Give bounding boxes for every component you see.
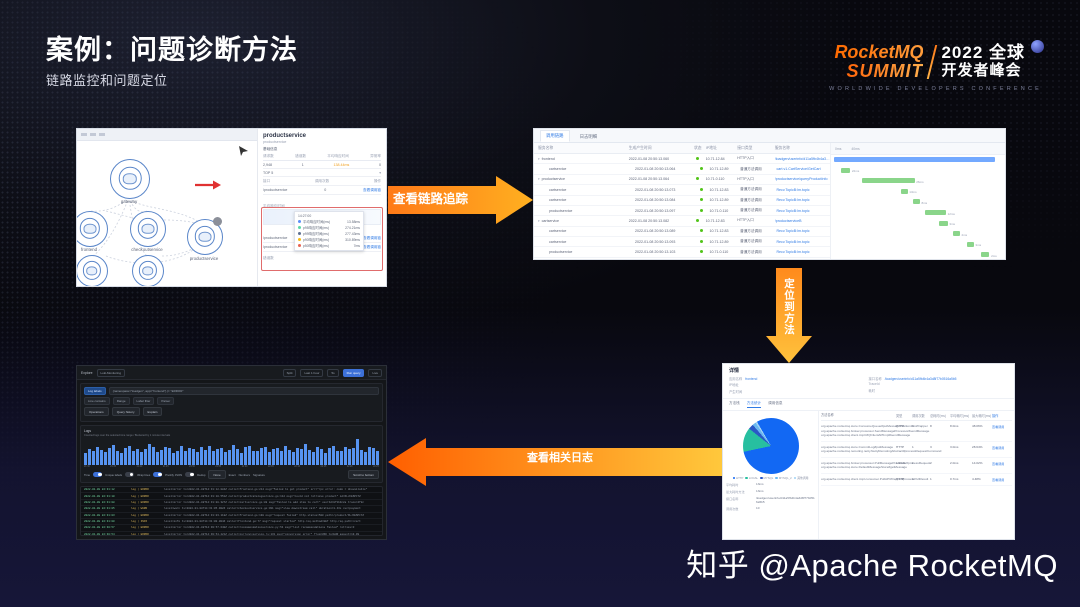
log-message: level=info ts=2022-01-08T14:31:00.004Z c… bbox=[164, 520, 379, 523]
log-volume-bar bbox=[208, 446, 211, 465]
cell-status bbox=[694, 250, 709, 254]
col-op: 操作 bbox=[374, 179, 381, 184]
kv-row: 接口名称/loadgen/userinfo/d11a5fb4b4a3d8f77b… bbox=[726, 496, 815, 504]
series-color-dot bbox=[298, 238, 301, 241]
split-button[interactable]: Split bbox=[283, 369, 297, 377]
cell-ip: 10.71.12.89 bbox=[710, 167, 741, 171]
col-endpoint: 服务名称 bbox=[775, 146, 830, 151]
log-volume-bar bbox=[364, 452, 367, 465]
legend-item[interactable]: MYSQL_2 bbox=[775, 476, 791, 480]
service-name: frontend bbox=[542, 157, 555, 161]
topology-node[interactable] bbox=[130, 211, 166, 247]
log-volume-bar bbox=[376, 451, 379, 465]
gantt-bar[interactable] bbox=[841, 168, 850, 173]
cell-endpoint[interactable]: /productservice/queryProductInfo bbox=[775, 177, 830, 181]
cell-ip: 10.71.12.83 bbox=[710, 188, 741, 192]
gantt-duration-label: 12ms bbox=[948, 212, 955, 216]
log-volume-bar bbox=[264, 447, 267, 465]
cell-endpoint[interactable]: /productserviceB bbox=[775, 219, 830, 223]
tab-log-detail[interactable]: 日志明细 bbox=[574, 131, 604, 142]
log-volume-bar bbox=[308, 450, 311, 465]
gantt-bar[interactable] bbox=[901, 189, 908, 194]
toggle-unique-labels[interactable] bbox=[125, 472, 134, 477]
col-type: 类型 bbox=[896, 413, 912, 418]
topology-node[interactable] bbox=[76, 255, 108, 287]
x-axis-tick: 22:05 bbox=[268, 466, 274, 468]
view-trace-link[interactable]: 查看调用链 bbox=[363, 188, 381, 193]
detail-meta-right: 接口名称/loadgen/userinfo/d11a5fb4b4a3d8f77b… bbox=[869, 376, 1009, 395]
trace-row[interactable]: productservice2022-01-08 20:50:13.10310.… bbox=[534, 247, 830, 257]
trace-row[interactable]: cartservice2022-01-08 20:50:13.06410.71.… bbox=[534, 164, 830, 174]
tooltip-row: 平均响应时间(ms) 13.58ms bbox=[298, 219, 360, 224]
status-ok-icon bbox=[700, 250, 703, 253]
cursor-icon bbox=[237, 145, 251, 157]
cell-endpoint[interactable]: /loadgen/userinfo/d11a5fb4b4a3d8f77b0516… bbox=[775, 157, 830, 161]
log-volume-bar bbox=[224, 452, 227, 465]
log-volume-bar bbox=[180, 446, 183, 466]
filter-label[interactable]: Label filter bbox=[133, 397, 155, 405]
cell-count: 0 bbox=[324, 188, 326, 193]
live-button[interactable]: Live bbox=[368, 369, 382, 377]
explain-button[interactable]: Explain bbox=[143, 407, 163, 416]
service-name: cartservice bbox=[549, 229, 566, 233]
log-row-list[interactable]: 2022-01-08 22:31:12log | ERRORlevel=erro… bbox=[80, 486, 383, 536]
table-head-row: 接口 调用次数 操作 bbox=[263, 177, 381, 186]
col-service-name: 服务名称 bbox=[534, 146, 629, 151]
topology-canvas[interactable]: gateway frontend checkoutservice product… bbox=[77, 129, 258, 286]
cell-time: 2022-01-08 20:50:13.097 bbox=[635, 209, 694, 213]
cell-service: cartservice bbox=[534, 240, 635, 244]
logo-sphere-icon bbox=[1031, 40, 1044, 53]
cell-status bbox=[694, 240, 709, 244]
trace-table[interactable]: 服务名称 生成产生时间 状态 IP地址 接口类型 服务名称 ▾frontend2… bbox=[534, 143, 831, 259]
trace-gantt[interactable]: 0ms 40ms 22ms26ms13ms8ms12ms3ms2ms3ms2ms bbox=[831, 143, 1005, 259]
toggle-time[interactable] bbox=[93, 472, 102, 477]
cell-endpoint[interactable]: Recv.TopicB:lm.topic bbox=[776, 250, 830, 254]
log-timestamp: 2022-01-08 22:30:57 bbox=[84, 526, 128, 529]
log-volume-bar bbox=[92, 451, 95, 465]
topology-node-label: productservice bbox=[190, 256, 219, 261]
log-volume-bar bbox=[352, 448, 355, 465]
watermark: 知乎 @Apache RocketMQ bbox=[686, 540, 1058, 585]
x-axis-tick: 21:35 bbox=[110, 466, 116, 468]
legend-item[interactable]: MYSQL bbox=[760, 476, 773, 480]
toggle-prettify[interactable] bbox=[185, 472, 194, 477]
detail-title: 详情 bbox=[729, 367, 1008, 374]
x-axis-tick: 22:00 bbox=[242, 466, 248, 468]
query-filter-row[interactable]: Line contains Range Label filter Parser bbox=[84, 397, 379, 405]
status-ok-icon bbox=[700, 188, 703, 191]
topology-node[interactable] bbox=[110, 159, 150, 199]
chevron-down-icon[interactable]: ▾ bbox=[379, 171, 381, 175]
log-volume-bar bbox=[100, 450, 103, 465]
log-volume-bar bbox=[124, 448, 127, 465]
service-name: cartservice bbox=[549, 240, 566, 244]
log-volume-panel[interactable]: Logs Counted logs over the selected time… bbox=[80, 425, 383, 483]
log-volume-bar bbox=[168, 448, 171, 465]
gantt-axis: 0ms 40ms bbox=[831, 143, 1005, 155]
log-volume-bar bbox=[204, 450, 207, 465]
screenshot-log-explorer[interactable]: Explore Loki-Monitoring Split Last 1 hou… bbox=[76, 365, 387, 540]
log-timestamp: 2022-01-08 22:31:05 bbox=[84, 507, 128, 510]
cell-time: 2022-01-08 20:50:13.073 bbox=[635, 188, 694, 192]
legend-item[interactable]: HTTP bbox=[733, 476, 744, 480]
log-timestamp: 2022-01-08 22:31:03 bbox=[84, 514, 128, 517]
legend-label: MYSQL bbox=[764, 476, 774, 480]
expand-caret-icon[interactable]: ▾ bbox=[538, 219, 540, 223]
service-name: productservice bbox=[542, 177, 565, 181]
x-axis-tick: 21:45 bbox=[163, 466, 169, 468]
log-volume-bar bbox=[96, 447, 99, 465]
topology-detail-panel[interactable]: productservice productservice 基础信息 请求数 错… bbox=[258, 129, 386, 286]
trace-row[interactable]: cartservice2022-01-08 20:50:13.07310.71.… bbox=[534, 185, 830, 195]
cell-service: cartservice bbox=[534, 167, 635, 171]
log-volume-bar bbox=[272, 449, 275, 465]
gantt-bar[interactable] bbox=[967, 242, 974, 247]
table-row[interactable]: /productservice 0 查看调用链 bbox=[263, 186, 381, 195]
stat-header: 请求数 bbox=[263, 154, 274, 159]
series-color-dot bbox=[298, 220, 301, 223]
datasource-picker[interactable]: Loki-Monitoring bbox=[97, 369, 126, 377]
tooltip-row: p99响应时间(ms) 277.43ms bbox=[298, 231, 360, 236]
meta-row: 应用名称frontend bbox=[729, 376, 869, 381]
arrow-locate-method-label: 定位到方法 bbox=[782, 278, 797, 336]
screenshot-trace-list[interactable]: 调用链路 日志明细 服务名称 生成产生时间 状态 IP地址 接口类型 服务名称 … bbox=[533, 128, 1006, 260]
cell-type: 普通方法调用 bbox=[740, 239, 776, 244]
log-volume-bar bbox=[288, 450, 291, 465]
meta-key: 产生时间 bbox=[729, 390, 742, 394]
toggle-wrap-lines[interactable] bbox=[153, 472, 162, 477]
log-volume-bar bbox=[212, 451, 215, 465]
meta-key: IP地址 bbox=[729, 383, 739, 387]
logo-right: 2022 全球 开发者峰会 bbox=[941, 44, 1025, 79]
meta-row: 产生时间2022-01-08 20:50:13.060 bbox=[729, 389, 869, 394]
log-volume-bar bbox=[360, 450, 363, 465]
log-volume-bar bbox=[240, 453, 243, 465]
filter-parser[interactable]: Parser bbox=[157, 397, 174, 405]
log-volume-bar bbox=[232, 445, 235, 465]
expand-caret-icon[interactable]: ▾ bbox=[538, 177, 540, 181]
log-level: log | ERROR bbox=[131, 533, 161, 536]
log-volume-bar bbox=[356, 439, 359, 465]
cell-endpoint[interactable]: Recv.TopicB:lm.topic bbox=[776, 240, 830, 244]
series-value: 310.89ms bbox=[345, 238, 360, 242]
option-prettify: Prettify JSON bbox=[165, 473, 182, 477]
detail-tabs[interactable]: 方法栈 方法统计 调用信息 bbox=[723, 399, 1014, 411]
legend-item[interactable]: 其他调用 bbox=[794, 476, 809, 480]
query-history-button[interactable]: Query history bbox=[112, 407, 140, 416]
detail-table-row[interactable]: org.apache.rocketmq.store.CommitLog#putM… bbox=[821, 442, 1012, 458]
cell-service: ▾productservice bbox=[534, 177, 629, 181]
series-value: 277.43ms bbox=[345, 232, 360, 236]
log-volume-bar bbox=[316, 447, 319, 465]
meta-row: TraceIdea1314df1821f7020888d2f2fd6ba4c21 bbox=[869, 382, 1009, 386]
log-volume-x-axis: 21:3021:3521:4021:4521:5021:5522:0022:05… bbox=[84, 466, 379, 468]
cell-service: cartservice bbox=[534, 229, 635, 233]
detail-table-row[interactable]: org.apache.rocketmq.broker.processor.Pul… bbox=[821, 458, 1012, 474]
log-volume-bar bbox=[128, 446, 131, 465]
gantt-bar[interactable] bbox=[834, 157, 994, 162]
log-labels-button[interactable]: Log labels bbox=[84, 387, 106, 395]
log-volume-bar bbox=[88, 449, 91, 465]
cell-status bbox=[690, 157, 706, 161]
meta-row: 耗时13ms bbox=[869, 388, 1009, 393]
kv-row: 调用次数10 bbox=[726, 506, 815, 511]
filter-range[interactable]: Range bbox=[113, 397, 130, 405]
meta-value[interactable]: frontend bbox=[745, 377, 757, 381]
meta-key: 接口名称 bbox=[869, 377, 882, 381]
log-volume-bar bbox=[320, 449, 323, 465]
stat-value-row: 2,948 1 138.44ms 0 bbox=[263, 161, 381, 169]
log-timestamp: 2022-01-08 22:31:10 bbox=[84, 495, 128, 498]
kv-key: 最大耗时方法 bbox=[726, 489, 756, 494]
series-value: 13.58ms bbox=[347, 220, 360, 224]
log-level: log | ERROR bbox=[131, 495, 161, 498]
log-volume-bar bbox=[248, 446, 251, 465]
query-actions-row[interactable]: Operations Query history Explain bbox=[84, 407, 379, 416]
status-ok-icon bbox=[696, 177, 699, 180]
series-color-dot bbox=[298, 226, 301, 229]
cell-type: LOCAL bbox=[896, 461, 912, 470]
log-volume-bar bbox=[296, 448, 299, 465]
topology-node-label: gateway bbox=[121, 199, 137, 204]
cell-total: 3 bbox=[930, 445, 950, 454]
logo-left: RocketMQ SUMMIT bbox=[834, 43, 923, 81]
cell-type: 普通方法调用 bbox=[740, 198, 776, 203]
trace-tabs[interactable]: 调用链路 日志明细 bbox=[534, 129, 1005, 143]
cell-service: productservice bbox=[534, 209, 635, 213]
topology-node-label: checkoutservice bbox=[131, 247, 162, 252]
status-ok-icon bbox=[700, 198, 703, 201]
cell-avg: 0.7ms bbox=[950, 477, 972, 482]
cell-total: 1 bbox=[930, 477, 950, 482]
series-name: p50响应时间(ms) bbox=[303, 243, 329, 248]
cell-service: productservice bbox=[534, 250, 635, 254]
method-duration-pie-chart[interactable] bbox=[743, 418, 799, 474]
legend-color-dot bbox=[745, 477, 748, 480]
log-level: log | ERROR bbox=[131, 501, 161, 504]
log-volume-bar bbox=[152, 447, 155, 465]
log-volume-bar bbox=[236, 449, 239, 465]
view-call-link[interactable]: 查看调用 bbox=[992, 424, 1012, 437]
series-name: 平均响应时间(ms) bbox=[303, 219, 330, 224]
topology-node-label: frontend bbox=[81, 247, 97, 252]
tab-trace-link[interactable]: 调用链路 bbox=[540, 130, 570, 142]
chart-tooltip: 14:27:00 平均响应时间(ms) 13.58ms p95响应时间(ms) … bbox=[294, 211, 364, 251]
detail-header: 详情 应用名称frontend IP地址10.71.12.84 产生时间2022… bbox=[723, 364, 1014, 399]
detail-table-row[interactable]: org.apache.rocketmq.client.impl.consumer… bbox=[821, 474, 1012, 486]
col-interface: 接口 bbox=[263, 179, 270, 184]
col-count: 调用次数 bbox=[315, 179, 329, 184]
trace-row[interactable]: ▾productservice2022-01-08 20:50:13.06410… bbox=[534, 175, 830, 185]
cell-type: 普通方法调用 bbox=[740, 167, 776, 172]
cell-status bbox=[694, 167, 709, 171]
gantt-bar[interactable] bbox=[939, 221, 948, 226]
dedup-none-button[interactable]: None bbox=[208, 470, 225, 479]
kv-key: 调用次数 bbox=[726, 506, 756, 511]
operations-button[interactable]: Operations bbox=[84, 407, 109, 416]
topn-selector[interactable]: TOP 5 ▾ bbox=[263, 169, 381, 177]
log-volume-bar bbox=[164, 447, 167, 465]
view-call-link[interactable]: 查看调用 bbox=[992, 461, 1012, 470]
cell-ip: 10.71.12.83 bbox=[710, 229, 741, 233]
filter-line-contains[interactable]: Line contains bbox=[84, 397, 110, 405]
log-message: level=error ts=2022-01-08T14:30:57.640Z … bbox=[164, 526, 379, 529]
cell-service: ▾frontend bbox=[534, 157, 629, 161]
kv-row: 最大耗时方法13ms bbox=[726, 489, 815, 494]
trace-row[interactable]: ▾frontend2022-01-08 20:50:13.06010.71.12… bbox=[534, 154, 830, 164]
log-volume-bar bbox=[140, 452, 143, 465]
status-ok-icon bbox=[700, 167, 703, 170]
cell-time: 2022-01-08 20:50:13.064 bbox=[629, 177, 690, 181]
log-level: log | ERROR bbox=[131, 514, 161, 517]
tooltip-row: p50响应时间(ms) 7ms bbox=[298, 243, 360, 248]
query-expression-input[interactable]: {namespace="loadgen", app="frontend"} |=… bbox=[109, 387, 379, 395]
col-max: 最大耗时(ms) bbox=[972, 413, 992, 418]
cell-ip: 10.71.12.84 bbox=[706, 157, 738, 161]
stat-value: 2,948 bbox=[263, 163, 272, 167]
pie-legend: HTTPLOCALMYSQLMYSQL_2其他调用 bbox=[726, 476, 815, 480]
legend-color-dot bbox=[760, 477, 763, 480]
log-volume-bar bbox=[332, 446, 335, 465]
explore-toolbar[interactable]: Explore Loki-Monitoring Split Last 1 hou… bbox=[77, 366, 386, 380]
gantt-duration-label: 22ms bbox=[852, 169, 859, 173]
cell-endpoint[interactable]: cart.v1.CartService/GetCart bbox=[776, 167, 830, 171]
log-timestamp: 2022-01-08 22:30:54 bbox=[84, 533, 128, 536]
log-message: level=error ts=2022-01-08T14:31:12.084Z … bbox=[164, 488, 379, 491]
log-message: level=warn ts=2022-01-08T14:31:05.902Z c… bbox=[164, 507, 379, 510]
cell-count: 1 bbox=[912, 424, 930, 437]
series-value: 7ms bbox=[354, 244, 360, 248]
log-timestamp: 2022-01-08 22:31:08 bbox=[84, 501, 128, 504]
log-volume-bar-chart[interactable] bbox=[84, 439, 379, 465]
tab-method-stack[interactable]: 方法栈 bbox=[729, 401, 740, 408]
trace-row[interactable]: productservice2022-01-08 20:50:13.09710.… bbox=[534, 206, 830, 216]
meta-value[interactable]: /loadgen/userinfo/d11a5fb4b4a3d8f77b0516… bbox=[885, 377, 957, 381]
tab-method-stats[interactable]: 方法统计 bbox=[747, 401, 761, 408]
stat-header: 异常率 bbox=[370, 154, 381, 159]
log-row[interactable]: 2022-01-08 22:30:54log | ERRORlevel=erro… bbox=[81, 532, 382, 536]
series-name: p95响应时间(ms) bbox=[303, 225, 329, 230]
col-count: 调用次数 bbox=[912, 413, 930, 418]
trace-body: 服务名称 生成产生时间 状态 IP地址 接口类型 服务名称 ▾frontend2… bbox=[534, 143, 1005, 259]
trace-row[interactable]: cartservice2022-01-08 20:50:13.08910.71.… bbox=[534, 227, 830, 237]
log-volume-bar bbox=[108, 448, 111, 465]
kv-key: 接口名称 bbox=[726, 496, 756, 504]
gantt-bar[interactable] bbox=[953, 231, 960, 236]
cell-endpoint[interactable]: Recv.TopicB:lm.topic bbox=[776, 209, 830, 213]
log-options-row[interactable]: Time Unique labels Wrap lines Prettify J… bbox=[84, 470, 379, 479]
legend-item[interactable]: LOCAL bbox=[745, 476, 758, 480]
expand-caret-icon[interactable]: ▾ bbox=[538, 157, 540, 161]
gantt-duration-label: 13ms bbox=[909, 190, 916, 194]
query-row[interactable]: Log labels {namespace="loadgen", app="fr… bbox=[84, 387, 379, 395]
legend-label: 其他调用 bbox=[797, 476, 808, 480]
query-editor[interactable]: Log labels {namespace="loadgen", app="fr… bbox=[80, 383, 383, 422]
zoom-button[interactable]: 5s bbox=[327, 369, 338, 377]
service-name: cartservice bbox=[549, 167, 566, 171]
cell-avg: 8.0ms bbox=[950, 424, 972, 437]
cell-interface: /productservice bbox=[263, 188, 287, 193]
log-timestamp: 2022-01-08 22:31:12 bbox=[84, 488, 128, 491]
cell-ip: 10.71.0.110 bbox=[710, 209, 741, 213]
cell-type: HTTP bbox=[896, 424, 912, 437]
scroll-to-bottom-button[interactable]: Scroll to bottom bbox=[348, 470, 379, 479]
cell-method: org.apache.rocketmq.broker.processor.Pul… bbox=[821, 461, 896, 470]
logo-rocketmq-text: RocketMQ bbox=[834, 43, 923, 62]
log-message: level=error ts=2022-01-08T14:31:08.327Z … bbox=[164, 501, 379, 504]
cell-time: 2022-01-08 20:50:13.064 bbox=[635, 167, 694, 171]
screenshot-span-detail[interactable]: 详情 应用名称frontend IP地址10.71.12.84 产生时间2022… bbox=[722, 363, 1015, 540]
gantt-bar[interactable] bbox=[913, 199, 920, 204]
cell-endpoint[interactable]: Recv.TopicB:lm.topic bbox=[776, 188, 830, 192]
dedup-signature[interactable]: Signature bbox=[253, 473, 265, 477]
log-volume-bar bbox=[136, 449, 139, 465]
log-volume-bar bbox=[260, 448, 263, 465]
cell-status bbox=[694, 188, 709, 192]
logo-summit-text: SUMMIT bbox=[834, 62, 923, 81]
dedup-exact[interactable]: Exact bbox=[229, 473, 236, 477]
log-volume-bar bbox=[120, 453, 123, 465]
log-volume-bar bbox=[348, 449, 351, 465]
trace-row[interactable]: ▾cartservice2022-01-08 20:50:13.08210.71… bbox=[534, 216, 830, 226]
cell-status bbox=[694, 229, 709, 233]
gantt-bar[interactable] bbox=[925, 210, 946, 215]
log-volume-bar bbox=[116, 451, 119, 465]
cell-pct: 14.02% bbox=[972, 461, 992, 470]
detail-table-row[interactable]: org.apache.rocketmq.store.ConsumeQueue#p… bbox=[821, 421, 1012, 441]
cell-type: HTTP入口 bbox=[737, 156, 774, 161]
trace-row[interactable]: cartservice2022-01-08 20:50:13.08410.71.… bbox=[534, 196, 830, 206]
cell-type: 普通方法调用 bbox=[740, 229, 776, 234]
gantt-bar[interactable] bbox=[862, 178, 914, 183]
cell-type: 普通方法调用 bbox=[740, 208, 776, 213]
detail-table-pane[interactable]: 方法名称 类型 调用次数 总耗时(ms) 平均耗时(ms) 最大耗时(ms) 操… bbox=[819, 411, 1014, 539]
run-query-button[interactable]: Run query bbox=[343, 369, 365, 377]
cell-endpoint[interactable]: Recv.TopicB:lm.topic bbox=[776, 198, 830, 202]
series-name: p90响应时间(ms) bbox=[303, 237, 329, 242]
log-volume-bar bbox=[340, 451, 343, 465]
detail-meta-left: 应用名称frontend IP地址10.71.12.84 产生时间2022-01… bbox=[729, 376, 869, 395]
gantt-duration-label: 26ms bbox=[916, 180, 923, 184]
view-call-link[interactable]: 查看调用 bbox=[992, 445, 1012, 454]
service-name: productservice bbox=[549, 209, 572, 213]
cell-count: 1 bbox=[912, 461, 930, 470]
graph-title: Logs bbox=[84, 429, 379, 433]
view-call-link[interactable]: 查看调用 bbox=[992, 477, 1012, 482]
service-name: cartservice bbox=[549, 198, 566, 202]
stat-header: 平均响应时间 bbox=[327, 154, 349, 159]
trace-row[interactable]: cartservice2022-01-08 20:50:13.09310.71.… bbox=[534, 237, 830, 247]
gantt-bar[interactable] bbox=[981, 252, 990, 257]
kv-value: 13ms bbox=[756, 482, 815, 487]
stat-header-row: 请求数 错误数 平均响应时间 异常率 bbox=[263, 152, 381, 161]
time-range-picker[interactable]: Last 1 hour bbox=[300, 369, 323, 377]
meta-row: IP地址10.71.12.84 bbox=[729, 382, 869, 387]
dedup-numbers[interactable]: Numbers bbox=[239, 473, 250, 477]
service-name: productservice bbox=[549, 250, 572, 254]
stat-value: 138.44ms bbox=[333, 163, 349, 167]
screenshot-service-topology[interactable]: gateway frontend checkoutservice product… bbox=[76, 128, 387, 287]
cell-endpoint[interactable]: Recv.TopicB:lm.topic bbox=[776, 229, 830, 233]
option-unique-labels: Unique labels bbox=[105, 473, 122, 477]
cell-type: 普通方法调用 bbox=[740, 250, 776, 255]
tab-call-info[interactable]: 调用信息 bbox=[768, 401, 782, 408]
topology-node[interactable] bbox=[132, 255, 164, 287]
log-volume-bar bbox=[104, 452, 107, 465]
gantt-duration-label: 2ms bbox=[962, 233, 968, 237]
log-volume-bar bbox=[228, 450, 231, 465]
